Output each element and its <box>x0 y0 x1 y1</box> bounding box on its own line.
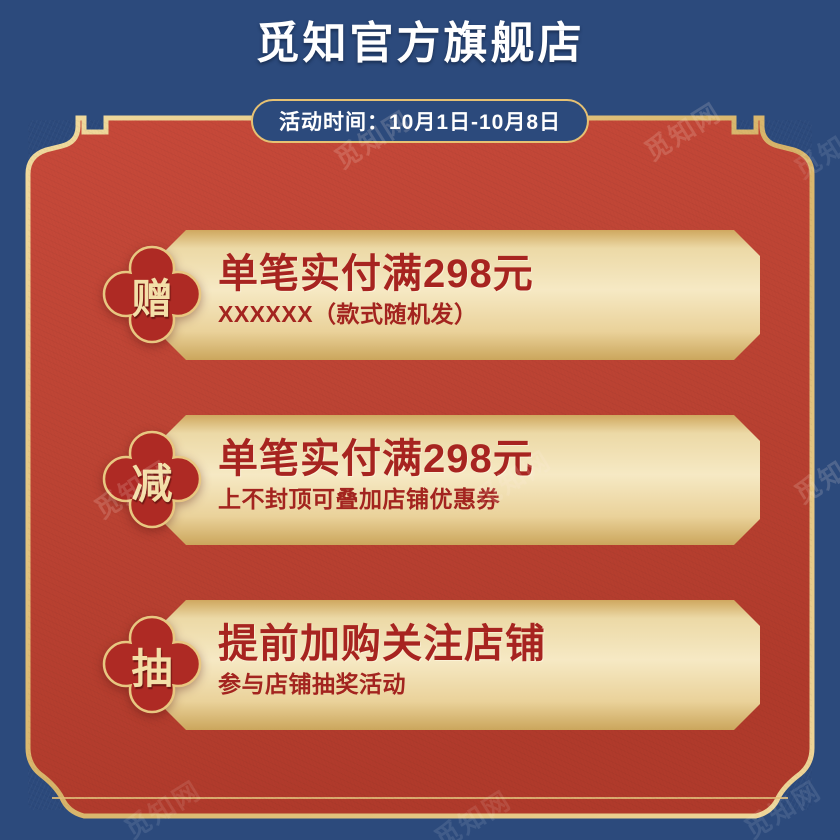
offer-title: 提前加购关注店铺 <box>218 621 744 667</box>
offer-title: 单笔实付满298元 <box>218 436 744 482</box>
promo-banner: 觅知官方旗舰店 <box>0 0 840 840</box>
offer-row[interactable]: 减 单笔实付满298元 上不封顶可叠加店铺优惠券 <box>100 410 760 550</box>
offer-subtitle: 参与店铺抽奖活动 <box>218 669 744 699</box>
offer-badge-character: 抽 <box>100 613 204 717</box>
offer-subtitle: XXXXXX（款式随机发） <box>218 299 744 329</box>
offer-row[interactable]: 抽 提前加购关注店铺 参与店铺抽奖活动 <box>100 595 760 735</box>
quatrefoil-badge-icon: 减 <box>100 428 204 532</box>
offer-text-block: 单笔实付满298元 上不封顶可叠加店铺优惠券 <box>218 410 744 540</box>
offer-badge-character: 赠 <box>100 243 204 347</box>
event-date-text: 活动时间：10月1日-10月8日 <box>279 106 561 136</box>
quatrefoil-badge-icon: 抽 <box>100 613 204 717</box>
offer-text-block: 单笔实付满298元 XXXXXX（款式随机发） <box>218 225 744 355</box>
page-title: 觅知官方旗舰店 <box>0 18 840 70</box>
offer-badge-character: 减 <box>100 428 204 532</box>
offer-row[interactable]: 赠 单笔实付满298元 XXXXXX（款式随机发） <box>100 225 760 365</box>
offer-subtitle: 上不封顶可叠加店铺优惠券 <box>218 484 744 514</box>
quatrefoil-badge-icon: 赠 <box>100 243 204 347</box>
offer-title: 单笔实付满298元 <box>218 251 744 297</box>
offer-text-block: 提前加购关注店铺 参与店铺抽奖活动 <box>218 595 744 725</box>
event-date-badge: 活动时间：10月1日-10月8日 <box>251 99 589 143</box>
